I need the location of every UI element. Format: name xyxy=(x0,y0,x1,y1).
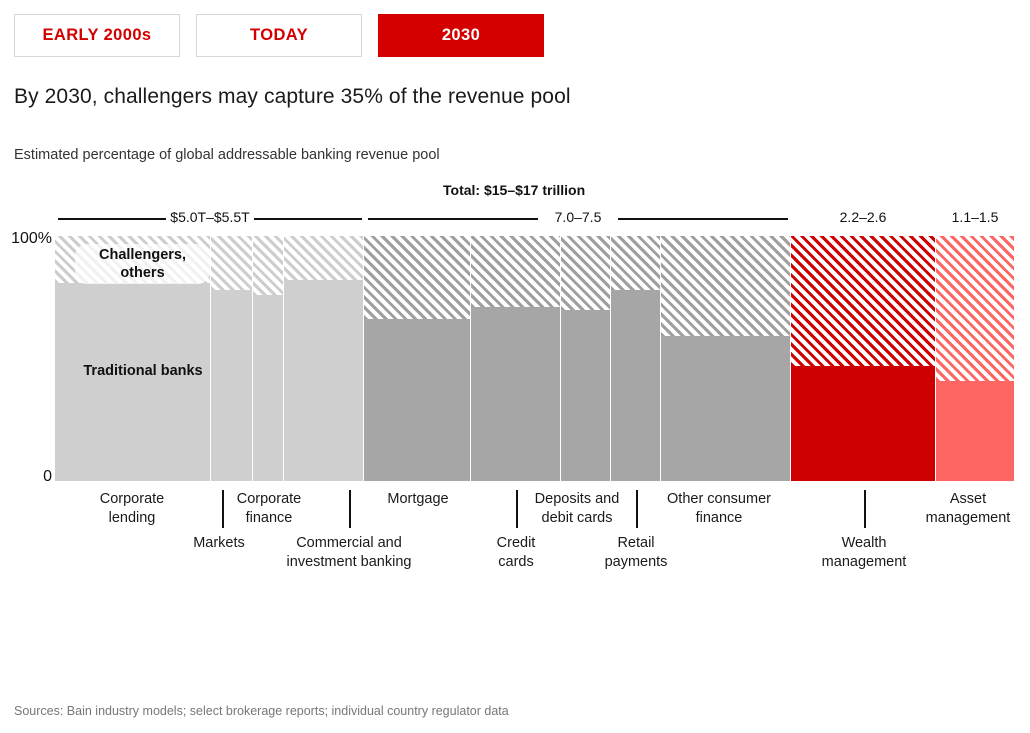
bar-markets[interactable] xyxy=(211,236,252,481)
bar-segment-challengers xyxy=(211,236,252,290)
x-label-commercial-and-investment-banking: Commercial and investment banking xyxy=(263,534,435,571)
bar-segment-traditional xyxy=(211,290,252,481)
bracket-group-1-label: $5.0T–$5.5T xyxy=(166,209,254,225)
legend-traditional-banks: Traditional banks xyxy=(73,362,213,380)
bar-segment-traditional xyxy=(611,290,660,481)
bar-segment-traditional xyxy=(936,381,1014,481)
x-label-markets: Markets xyxy=(164,534,274,553)
bracket-group-2: 7.0–7.5 xyxy=(368,209,788,227)
bar-segment-challengers xyxy=(253,236,283,295)
y-axis: 100% 0 xyxy=(0,230,52,486)
bar-segment-traditional xyxy=(284,280,363,481)
bar-segment-traditional xyxy=(471,307,560,481)
x-label-wealth-management: Wealth management xyxy=(789,534,939,571)
bar-segment-traditional xyxy=(561,310,610,482)
x-label-corporate-lending: Corporate lending xyxy=(72,490,192,527)
x-label-deposits-and-debit-cards: Deposits and debit cards xyxy=(507,490,647,527)
x-label-mortgage: Mortgage xyxy=(363,490,473,509)
bar-other-consumer-finance[interactable] xyxy=(661,236,790,481)
value-label-wealth: 2.2–2.6 xyxy=(791,209,935,225)
source-note: Sources: Bain industry models; select br… xyxy=(14,704,509,718)
leader-line-commercial-and-investment-banking xyxy=(349,490,351,528)
bar-segment-challengers xyxy=(661,236,790,336)
bar-corporate-finance[interactable] xyxy=(253,236,283,481)
marimekko-chart: Total: $15–$17 trillion $5.0T–$5.5T 7.0–… xyxy=(0,0,1030,733)
x-label-asset-management: Asset management xyxy=(895,490,1030,527)
bar-segment-traditional xyxy=(55,283,210,481)
leader-line-retail-payments xyxy=(636,490,638,528)
bar-segment-challengers xyxy=(791,236,935,366)
bar-segment-challengers xyxy=(611,236,660,290)
x-axis-labels: Corporate lending Markets Corporate fina… xyxy=(0,484,1030,574)
bar-segment-challengers xyxy=(284,236,363,280)
bar-segment-challengers xyxy=(936,236,1014,381)
bar-segment-traditional xyxy=(364,319,470,481)
x-label-other-consumer-finance: Other consumer finance xyxy=(639,490,799,527)
legend-challengers-others: Challengers, others xyxy=(75,244,210,284)
bar-segment-traditional xyxy=(253,295,283,481)
leader-line-wealth-management xyxy=(864,490,866,528)
x-label-retail-payments: Retail payments xyxy=(578,534,694,571)
total-label: Total: $15–$17 trillion xyxy=(443,182,585,198)
bar-segment-traditional xyxy=(791,366,935,481)
bracket-rule-right xyxy=(618,218,788,220)
bar-segment-traditional xyxy=(661,336,790,481)
bar-asset-management[interactable] xyxy=(936,236,1014,481)
bar-mortgage[interactable] xyxy=(364,236,470,481)
bracket-rule-left xyxy=(58,218,166,220)
bar-deposits-and-debit-cards[interactable] xyxy=(561,236,610,481)
y-axis-max-label: 100% xyxy=(11,230,52,248)
bracket-group-1: $5.0T–$5.5T xyxy=(58,209,362,227)
bar-retail-payments[interactable] xyxy=(611,236,660,481)
bar-wealth-management[interactable] xyxy=(791,236,935,481)
chart-page: EARLY 2000s TODAY 2030 By 2030, challeng… xyxy=(0,0,1030,733)
plot-area: Challengers, others Traditional banks xyxy=(55,236,1014,481)
bar-segment-challengers xyxy=(471,236,560,307)
bar-segment-challengers xyxy=(561,236,610,310)
x-label-corporate-finance: Corporate finance xyxy=(214,490,324,527)
bracket-rule-left xyxy=(368,218,538,220)
bracket-group-2-label: 7.0–7.5 xyxy=(538,209,618,225)
bar-credit-cards[interactable] xyxy=(471,236,560,481)
bracket-rule-right xyxy=(254,218,362,220)
bar-commercial-and-investment-banking[interactable] xyxy=(284,236,363,481)
value-label-asset: 1.1–1.5 xyxy=(936,209,1014,225)
bar-segment-challengers xyxy=(364,236,470,319)
x-label-credit-cards: Credit cards xyxy=(461,534,571,571)
